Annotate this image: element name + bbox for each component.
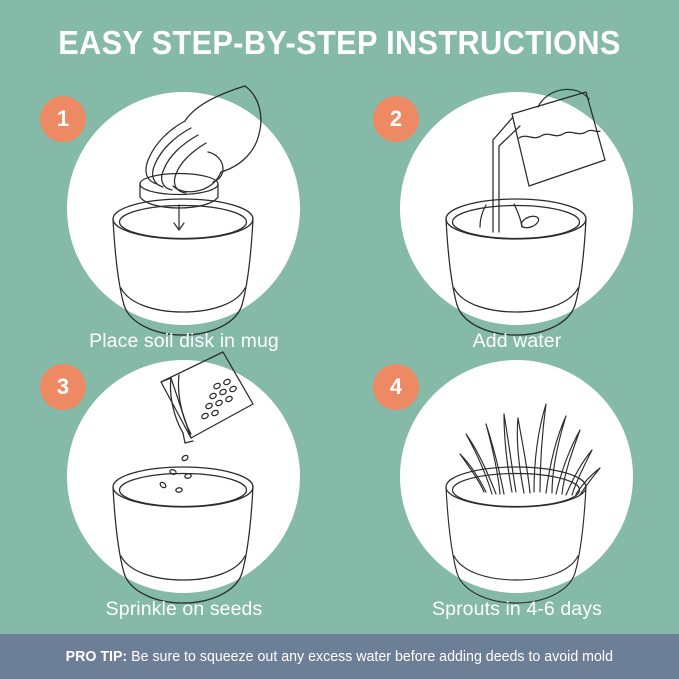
step-card-3[interactable]: 3 Sprinkle on seeds (34, 360, 334, 628)
steps-row-1: 1 Place soil disk in mug (0, 92, 679, 360)
pro-tip-text: Be sure to squeeze out any excess water … (131, 649, 613, 665)
step-caption-4: Sprouts in 4-6 days (367, 598, 667, 621)
step-illustration-1 (67, 74, 300, 329)
pro-tip-label: PRO TIP: (66, 649, 132, 665)
step-badge-1: 1 (40, 96, 86, 142)
step-card-1[interactable]: 1 Place soil disk in mug (34, 92, 334, 360)
instructions-poster: EASY STEP-BY-STEP INSTRUCTIONS (0, 0, 679, 679)
step-illustration-2 (400, 74, 633, 329)
step-illustration-4 (400, 342, 633, 597)
step-badge-3: 3 (40, 364, 86, 410)
step-card-2[interactable]: 2 Add water (367, 92, 667, 360)
step-badge-4: 4 (373, 364, 419, 410)
pro-tip-banner: PRO TIP: Be sure to squeeze out any exce… (0, 634, 679, 679)
step-caption-3: Sprinkle on seeds (34, 598, 334, 621)
page-title: EASY STEP-BY-STEP INSTRUCTIONS (24, 24, 655, 62)
step-badge-2: 2 (373, 96, 419, 142)
steps-grid: 1 Place soil disk in mug (0, 92, 679, 628)
steps-row-2: 3 Sprinkle on seeds (0, 360, 679, 628)
step-illustration-3 (67, 342, 300, 597)
pro-tip-content: PRO TIP: Be sure to squeeze out any exce… (66, 649, 613, 665)
step-card-4[interactable]: 4 Sprouts in 4-6 days (367, 360, 667, 628)
